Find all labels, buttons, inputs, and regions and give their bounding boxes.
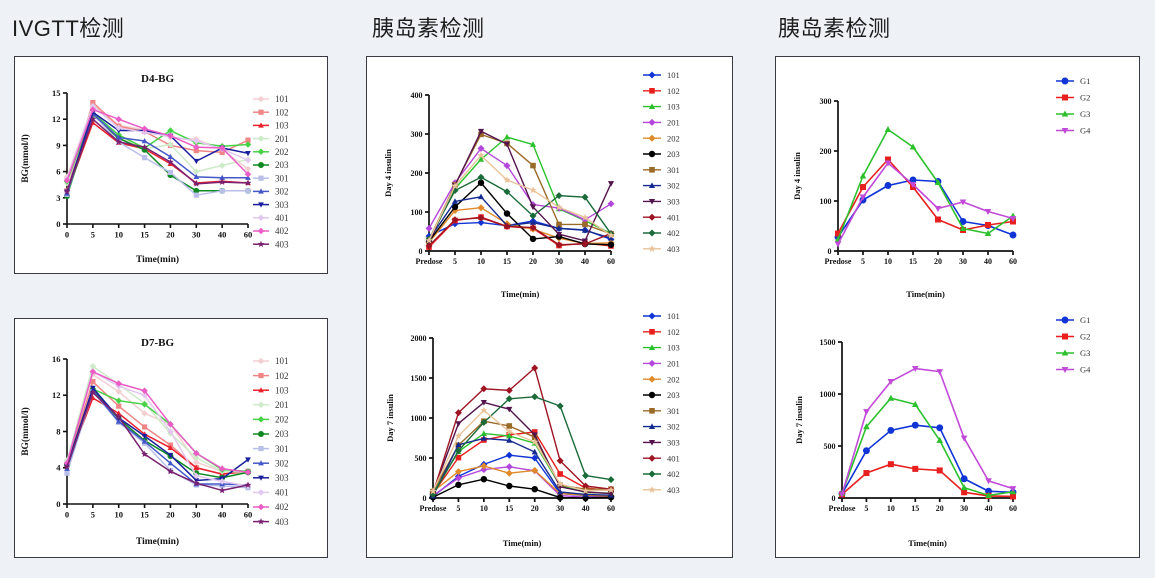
svg-text:60: 60 [244,510,253,520]
svg-text:Day 4 insulin: Day 4 insulin [792,152,802,200]
svg-text:0: 0 [828,247,832,256]
svg-text:301: 301 [275,173,289,183]
svg-text:Day 4 insulin: Day 4 insulin [383,149,393,197]
svg-text:2000: 2000 [411,334,427,343]
svg-text:40: 40 [985,504,993,513]
svg-text:Time(min): Time(min) [136,536,179,547]
svg-text:1500: 1500 [820,338,836,347]
svg-text:300: 300 [820,97,832,106]
svg-text:201: 201 [275,134,289,144]
svg-text:402: 402 [667,228,680,238]
svg-text:0: 0 [65,510,69,520]
svg-text:30: 30 [959,257,967,266]
svg-text:60: 60 [1009,504,1017,513]
svg-text:401: 401 [667,453,680,463]
svg-text:1000: 1000 [411,414,427,423]
svg-text:402: 402 [667,469,680,479]
svg-text:203: 203 [667,149,680,159]
svg-text:G1: G1 [1080,76,1090,86]
svg-text:201: 201 [275,400,289,410]
svg-text:103: 103 [667,102,680,112]
chart-d4-insulin-subjects: 0100200300400Predose5101520304060Time(mi… [367,57,731,307]
svg-text:401: 401 [667,212,680,222]
svg-text:Predose: Predose [420,504,447,513]
svg-text:5: 5 [453,257,457,266]
svg-text:0: 0 [832,494,836,503]
svg-text:20: 20 [529,257,537,266]
svg-text:12: 12 [52,114,61,124]
panel-insulin-subjects: 0100200300400Predose5101520304060Time(mi… [366,56,733,558]
svg-text:Time(min): Time(min) [503,538,542,548]
svg-text:203: 203 [275,160,289,170]
svg-text:5: 5 [861,257,865,266]
chart-d4-insulin-groups: 0100200300Predose5101520304060Time(min)D… [776,57,1138,307]
svg-text:30: 30 [192,510,201,520]
svg-text:202: 202 [667,133,680,143]
svg-text:500: 500 [415,454,427,463]
svg-text:101: 101 [667,311,680,321]
svg-text:G4: G4 [1080,365,1091,375]
panel-d7-bg: D7-BG048121605101520304060Time(min)BG(mm… [14,318,328,558]
svg-text:401: 401 [275,213,289,223]
svg-text:102: 102 [667,86,680,96]
svg-text:0: 0 [56,219,60,229]
svg-text:30: 30 [556,504,564,513]
svg-text:60: 60 [1009,257,1017,266]
svg-text:200: 200 [820,147,832,156]
svg-text:400: 400 [411,91,423,100]
svg-text:301: 301 [667,165,680,175]
page-root: IVGTT检测 胰岛素检测 胰岛素检测 D4-BG036912150510152… [0,0,1155,578]
svg-text:20: 20 [934,257,942,266]
chart-d7-bg: D7-BG048121605101520304060Time(min)BG(mm… [15,319,326,556]
svg-text:303: 303 [667,437,680,447]
svg-text:401: 401 [275,488,289,498]
svg-text:303: 303 [667,196,680,206]
svg-text:403: 403 [667,244,680,254]
svg-text:301: 301 [275,444,289,454]
svg-text:60: 60 [607,257,615,266]
svg-text:103: 103 [667,343,680,353]
svg-text:40: 40 [582,504,590,513]
svg-text:500: 500 [824,442,836,451]
svg-text:12: 12 [52,390,61,400]
svg-text:Predose: Predose [829,504,856,513]
svg-text:0: 0 [65,230,69,240]
svg-text:40: 40 [218,510,227,520]
svg-text:3: 3 [56,193,60,203]
svg-text:40: 40 [218,230,227,240]
svg-text:Day 7 insulin: Day 7 insulin [794,396,804,444]
svg-text:15: 15 [52,88,61,98]
svg-text:20: 20 [936,504,944,513]
chart-d7-insulin-groups: 050010001500Predose5101520304060Time(min… [776,308,1138,556]
svg-text:103: 103 [275,385,289,395]
svg-text:302: 302 [275,458,289,468]
svg-text:10: 10 [114,510,123,520]
svg-text:20: 20 [166,510,175,520]
svg-text:Time(min): Time(min) [136,254,179,265]
svg-text:G1: G1 [1080,315,1090,325]
svg-text:201: 201 [667,358,680,368]
svg-text:1000: 1000 [820,390,836,399]
svg-text:403: 403 [275,239,289,249]
svg-text:101: 101 [667,70,680,80]
svg-text:103: 103 [275,121,289,131]
svg-text:302: 302 [667,181,680,191]
svg-text:G4: G4 [1080,126,1091,136]
svg-text:D7-BG: D7-BG [141,337,174,349]
svg-text:202: 202 [667,374,680,384]
svg-text:10: 10 [480,504,488,513]
svg-text:15: 15 [140,510,149,520]
heading-insulin-groups: 胰岛素检测 [778,11,891,43]
svg-text:60: 60 [607,504,615,513]
svg-text:403: 403 [667,485,680,495]
svg-text:15: 15 [909,257,917,266]
svg-text:Time(min): Time(min) [501,289,540,299]
svg-text:16: 16 [52,354,61,364]
svg-text:302: 302 [667,422,680,432]
svg-text:300: 300 [411,130,423,139]
svg-text:Predose: Predose [416,257,443,266]
svg-text:101: 101 [275,94,289,104]
svg-text:100: 100 [411,208,423,217]
heading-insulin-subjects: 胰岛素检测 [372,11,485,43]
svg-text:200: 200 [411,169,423,178]
svg-text:102: 102 [275,371,289,381]
svg-text:402: 402 [275,502,289,512]
heading-ivgtt: IVGTT检测 [12,11,124,43]
svg-text:203: 203 [667,390,680,400]
svg-text:G2: G2 [1080,332,1090,342]
svg-text:30: 30 [192,230,201,240]
chart-d7-insulin-subjects: 0500100015002000Predose5101520304060Time… [367,308,731,556]
svg-text:302: 302 [275,187,289,197]
svg-text:0: 0 [419,247,423,256]
svg-text:0: 0 [56,499,60,509]
svg-text:40: 40 [984,257,992,266]
svg-text:203: 203 [275,429,289,439]
svg-text:102: 102 [275,107,289,117]
svg-text:301: 301 [667,406,680,416]
svg-text:101: 101 [275,356,289,366]
chart-d4-bg: D4-BG0369121505101520304060Time(min)BG(m… [15,57,326,272]
svg-text:G2: G2 [1080,93,1090,103]
svg-text:403: 403 [275,517,289,527]
panel-d4-bg: D4-BG0369121505101520304060Time(min)BG(m… [14,56,328,274]
svg-text:BG(mmol/l): BG(mmol/l) [20,407,31,456]
svg-text:15: 15 [140,230,149,240]
svg-text:15: 15 [503,257,511,266]
svg-text:15: 15 [911,504,919,513]
svg-text:BG(mmol/l): BG(mmol/l) [20,134,31,183]
svg-text:Time(min): Time(min) [906,289,945,299]
svg-text:5: 5 [864,504,868,513]
svg-text:15: 15 [505,504,513,513]
svg-text:40: 40 [581,257,589,266]
svg-text:10: 10 [114,230,123,240]
svg-text:1500: 1500 [411,374,427,383]
svg-text:Predose: Predose [825,257,852,266]
svg-text:100: 100 [820,197,832,206]
svg-text:9: 9 [56,140,60,150]
svg-text:402: 402 [275,226,289,236]
svg-text:10: 10 [477,257,485,266]
svg-text:20: 20 [531,504,539,513]
svg-text:30: 30 [555,257,563,266]
svg-text:202: 202 [275,415,289,425]
svg-text:102: 102 [667,327,680,337]
svg-text:G3: G3 [1080,109,1090,119]
svg-text:5: 5 [91,230,95,240]
svg-text:30: 30 [960,504,968,513]
svg-text:Time(min): Time(min) [908,538,947,548]
svg-text:201: 201 [667,117,680,127]
svg-text:10: 10 [884,257,892,266]
svg-text:202: 202 [275,147,289,157]
panel-insulin-groups: 0100200300Predose5101520304060Time(min)D… [775,56,1140,558]
svg-text:5: 5 [91,510,95,520]
svg-text:4: 4 [56,463,61,473]
svg-text:6: 6 [56,167,60,177]
svg-text:60: 60 [244,230,253,240]
svg-text:G3: G3 [1080,348,1090,358]
svg-text:5: 5 [456,504,460,513]
svg-text:D4-BG: D4-BG [141,73,174,85]
svg-text:Day 7 insulin: Day 7 insulin [385,394,395,442]
svg-text:303: 303 [275,473,289,483]
svg-text:10: 10 [887,504,895,513]
svg-text:8: 8 [56,426,60,436]
svg-text:303: 303 [275,200,289,210]
svg-text:0: 0 [423,494,427,503]
svg-text:20: 20 [166,230,175,240]
